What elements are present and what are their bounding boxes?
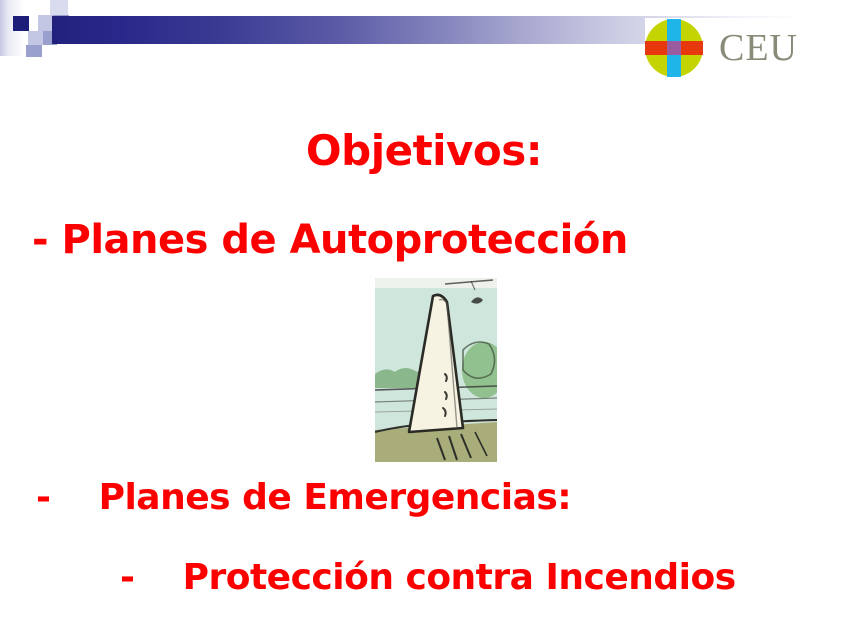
slide-title: Objetivos: bbox=[0, 130, 848, 172]
decor-square-dark bbox=[13, 16, 29, 31]
logo-center-shape bbox=[667, 41, 681, 55]
bullet-planes-de-autoproteccion: - Planes de Autoprotección bbox=[32, 220, 628, 260]
decor-square-pale-top bbox=[50, 0, 68, 16]
ceu-logo: CEU bbox=[645, 18, 831, 78]
slide-header: CEU bbox=[0, 0, 848, 90]
decor-square-light-b bbox=[28, 31, 43, 45]
obelisk-illustration bbox=[375, 278, 497, 462]
ceu-cross-icon bbox=[645, 19, 703, 77]
bullet-planes-de-emergencias: - Planes de Emergencias: bbox=[36, 480, 571, 516]
decor-square-light-a bbox=[38, 15, 53, 31]
obelisk-illustration-graphic bbox=[375, 278, 497, 462]
bullet-proteccion-contra-incendios: - Protección contra Incendios bbox=[120, 560, 736, 596]
ceu-logo-text: CEU bbox=[719, 29, 798, 67]
presentation-slide: CEU Objetivos: - Planes de Autoprotecció… bbox=[0, 0, 848, 636]
decor-square-mid-c bbox=[26, 45, 42, 57]
